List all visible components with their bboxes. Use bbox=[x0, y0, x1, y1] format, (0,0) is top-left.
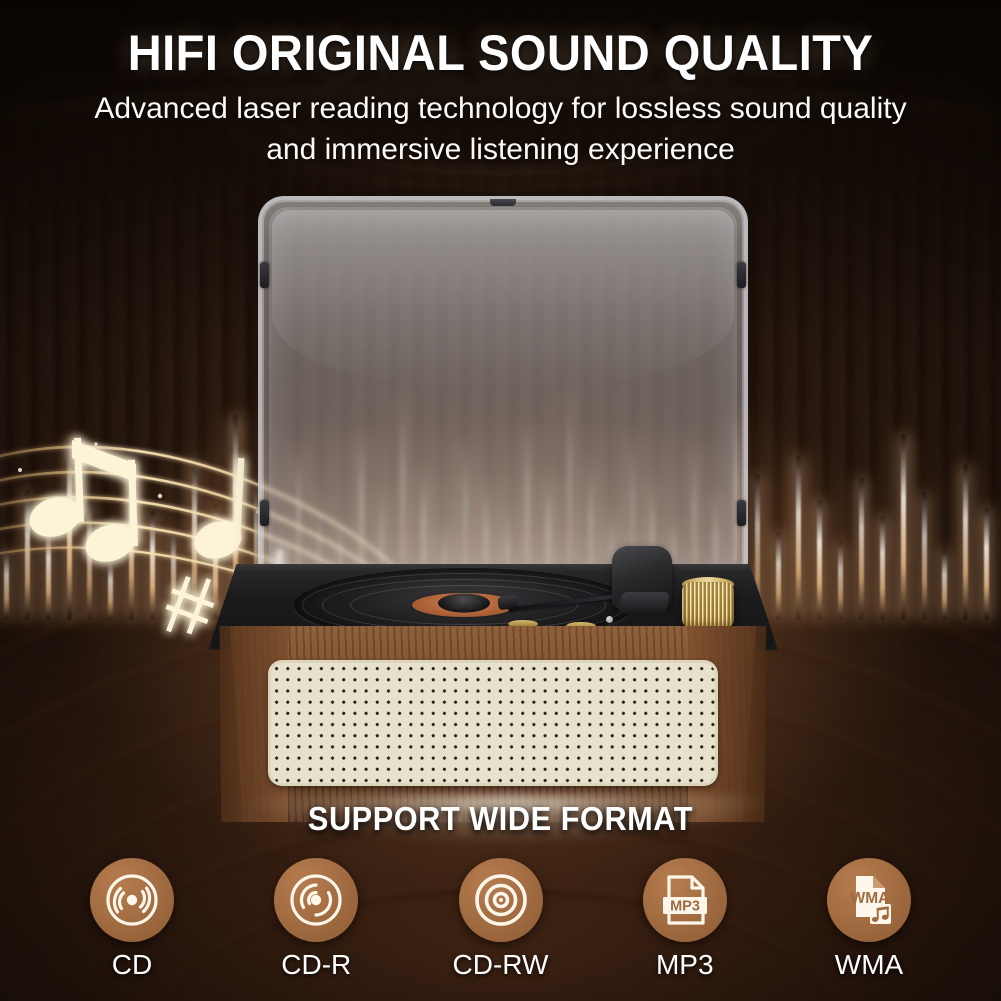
support-section-title: SUPPORT WIDE FORMAT bbox=[35, 800, 966, 838]
spectrum-bar bbox=[859, 478, 864, 620]
platter-spindle bbox=[438, 594, 490, 613]
lid-hinge-right bbox=[737, 262, 746, 288]
music-note-badge bbox=[870, 904, 891, 924]
format-label: MP3 bbox=[656, 949, 714, 981]
wma-file-icon: WMA bbox=[827, 858, 911, 942]
spectrum-bar bbox=[880, 516, 885, 620]
cd-disc-rings-icon bbox=[459, 858, 543, 942]
format-label: CD-R bbox=[281, 949, 351, 981]
mp3-file-text: MP3 bbox=[670, 898, 700, 914]
lid-hinge-left-lower bbox=[260, 500, 269, 526]
spectrum-bar bbox=[796, 456, 801, 620]
lid-hinge-left bbox=[260, 262, 269, 288]
mp3-file-icon: MP3 bbox=[643, 858, 727, 942]
cd-disc-arcs-icon bbox=[274, 858, 358, 942]
supported-formats-list: CD CD-R bbox=[0, 858, 1001, 1001]
brass-control-knob[interactable] bbox=[682, 582, 734, 628]
product-marketing-poster: HIFI ORIGINAL SOUND QUALITY Advanced las… bbox=[0, 0, 1001, 1001]
lid-hinge-right-lower bbox=[737, 500, 746, 526]
format-label: WMA bbox=[835, 949, 903, 981]
lid-inner-panel bbox=[269, 207, 737, 575]
spectrum-bar bbox=[817, 500, 822, 620]
spectrum-bar bbox=[963, 464, 968, 620]
spectrum-bar bbox=[942, 550, 947, 620]
spectrum-bar bbox=[901, 434, 906, 620]
format-label: CD-RW bbox=[453, 949, 549, 981]
tonearm-headshell bbox=[497, 595, 518, 610]
format-item-cd[interactable]: CD bbox=[62, 858, 202, 981]
format-item-mp3[interactable]: MP3 MP3 bbox=[615, 858, 755, 981]
spectrum-bar bbox=[922, 492, 927, 620]
perforated-speaker-grille bbox=[268, 660, 718, 786]
page-headline: HIFI ORIGINAL SOUND QUALITY bbox=[30, 24, 971, 82]
spectrum-bar bbox=[984, 508, 989, 620]
page-subheadline: Advanced laser reading technology for lo… bbox=[80, 88, 921, 171]
tonearm-pivot bbox=[618, 592, 670, 614]
cd-disc-waves-icon bbox=[90, 858, 174, 942]
format-item-cd-rw[interactable]: CD-RW bbox=[431, 858, 571, 981]
deck-indicator-dot bbox=[606, 616, 613, 623]
format-item-cd-r[interactable]: CD-R bbox=[246, 858, 386, 981]
transparent-dust-cover-lid[interactable] bbox=[258, 196, 748, 586]
spectrum-bar bbox=[838, 542, 843, 620]
lid-top-tab bbox=[490, 199, 516, 206]
format-label: CD bbox=[112, 949, 152, 981]
turntable-product bbox=[208, 196, 778, 796]
format-item-wma[interactable]: WMA WMA bbox=[799, 858, 939, 981]
